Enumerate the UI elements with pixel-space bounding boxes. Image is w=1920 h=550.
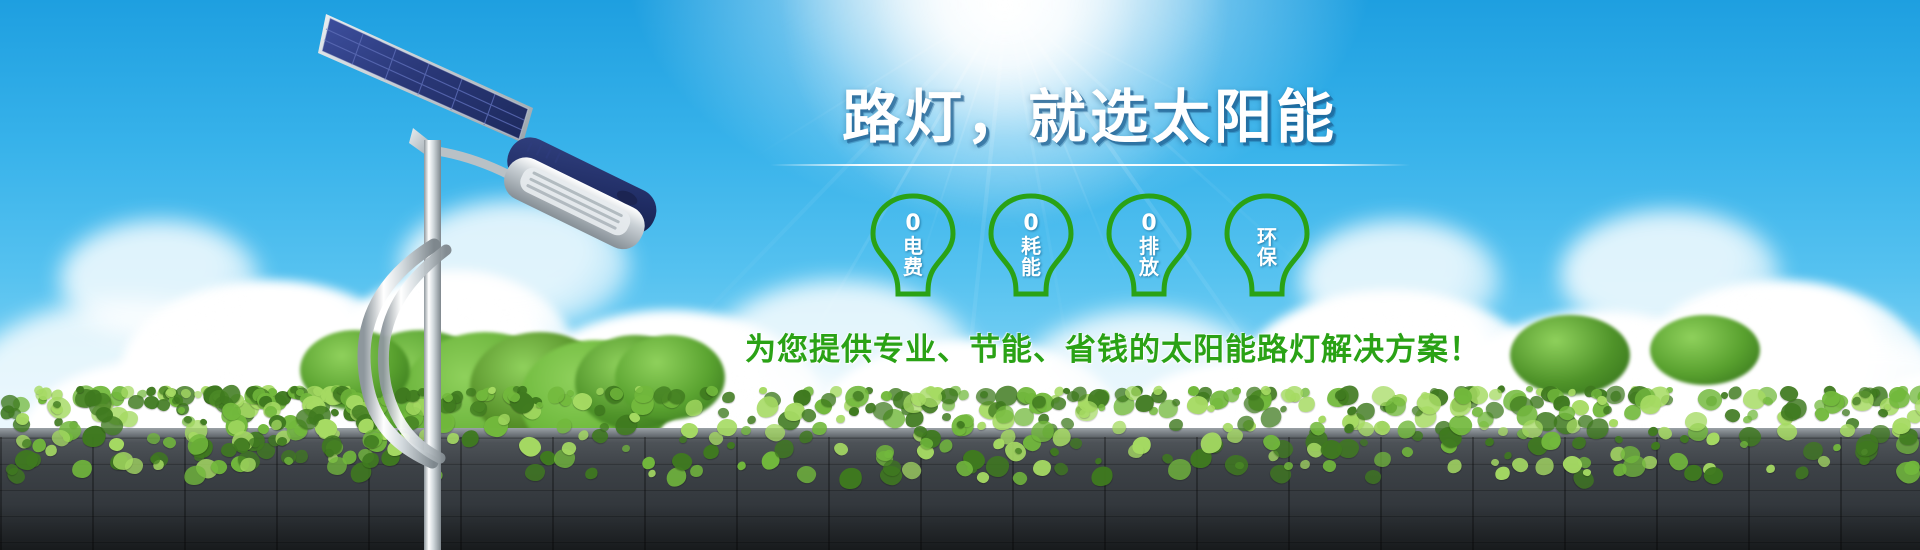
badge-label: 放 <box>1139 257 1159 277</box>
tree-canopy <box>1650 315 1760 385</box>
badge-content: 0排放 <box>1139 213 1159 277</box>
feature-badge[interactable]: 环保 <box>1221 192 1313 298</box>
hero-banner: 路灯，就选太阳能 0电费0耗能0排放环保 为您提供专业、节能、省钱的太阳能路灯解… <box>0 0 1920 550</box>
banner-subtitle: 为您提供专业、节能、省钱的太阳能路灯解决方案！ <box>745 324 1435 369</box>
badge-zero-value: 0 <box>1023 213 1038 235</box>
badge-label: 能 <box>1021 257 1041 277</box>
badge-zero-value: 0 <box>1141 213 1156 235</box>
feature-badge[interactable]: 0排放 <box>1103 192 1195 298</box>
badge-label: 环 <box>1257 227 1277 247</box>
badge-content: 0电费 <box>903 213 923 277</box>
title-divider <box>770 164 1410 166</box>
badge-label: 排 <box>1139 236 1159 256</box>
banner-copy: 路灯，就选太阳能 0电费0耗能0排放环保 为您提供专业、节能、省钱的太阳能路灯解… <box>745 88 1435 369</box>
solar-street-lamp-illustration <box>0 0 760 550</box>
tree-canopy <box>1510 315 1630 395</box>
feature-badge-list: 0电费0耗能0排放环保 <box>745 192 1435 298</box>
badge-content: 环保 <box>1257 223 1277 268</box>
badge-label: 耗 <box>1021 236 1041 256</box>
badge-label: 保 <box>1257 247 1277 267</box>
feature-badge[interactable]: 0耗能 <box>985 192 1077 298</box>
feature-badge[interactable]: 0电费 <box>867 192 959 298</box>
badge-zero-value: 0 <box>905 213 920 235</box>
badge-label: 费 <box>903 257 923 277</box>
page-title: 路灯，就选太阳能 <box>745 88 1435 146</box>
badge-content: 0耗能 <box>1021 213 1041 277</box>
badge-label: 电 <box>903 236 923 256</box>
